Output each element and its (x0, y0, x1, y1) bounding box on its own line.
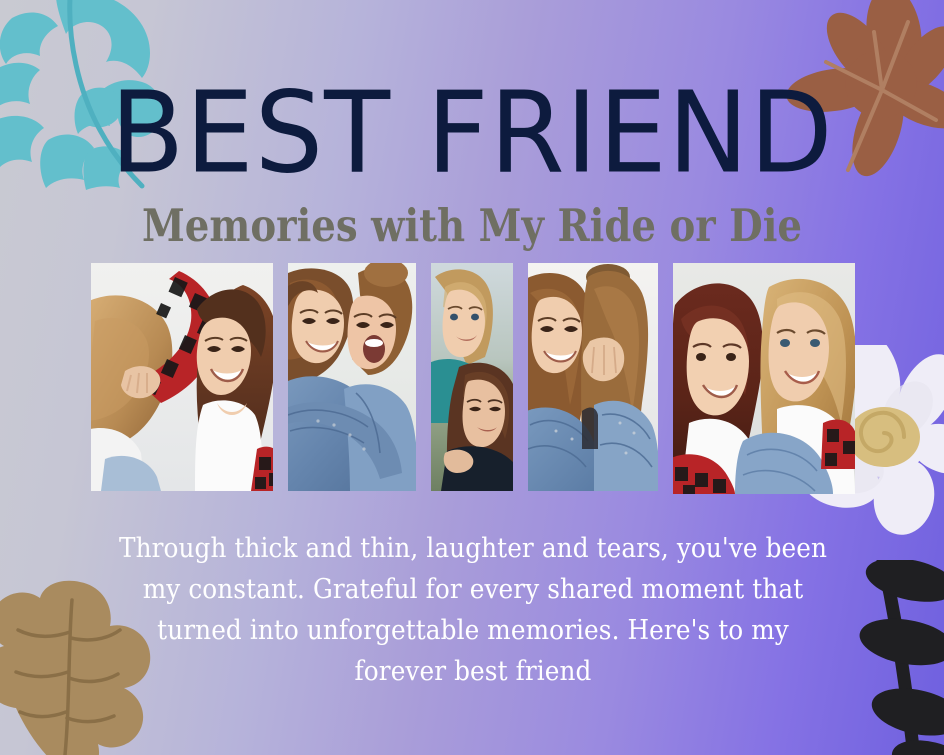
photo-3 (431, 263, 513, 491)
photo-1 (91, 263, 273, 491)
photo-2 (288, 263, 416, 491)
page-title: BEST FRIEND (0, 78, 944, 190)
photo-strip (91, 263, 855, 494)
body-text: Through thick and thin, laughter and tea… (118, 528, 829, 692)
photo-5 (673, 263, 855, 494)
stem-leaves-black-icon (845, 560, 944, 755)
poster-canvas: BEST FRIEND Memories with My Ride or Die (0, 0, 944, 755)
photo-4 (528, 263, 658, 491)
page-subtitle: Memories with My Ride or Die (66, 202, 878, 249)
